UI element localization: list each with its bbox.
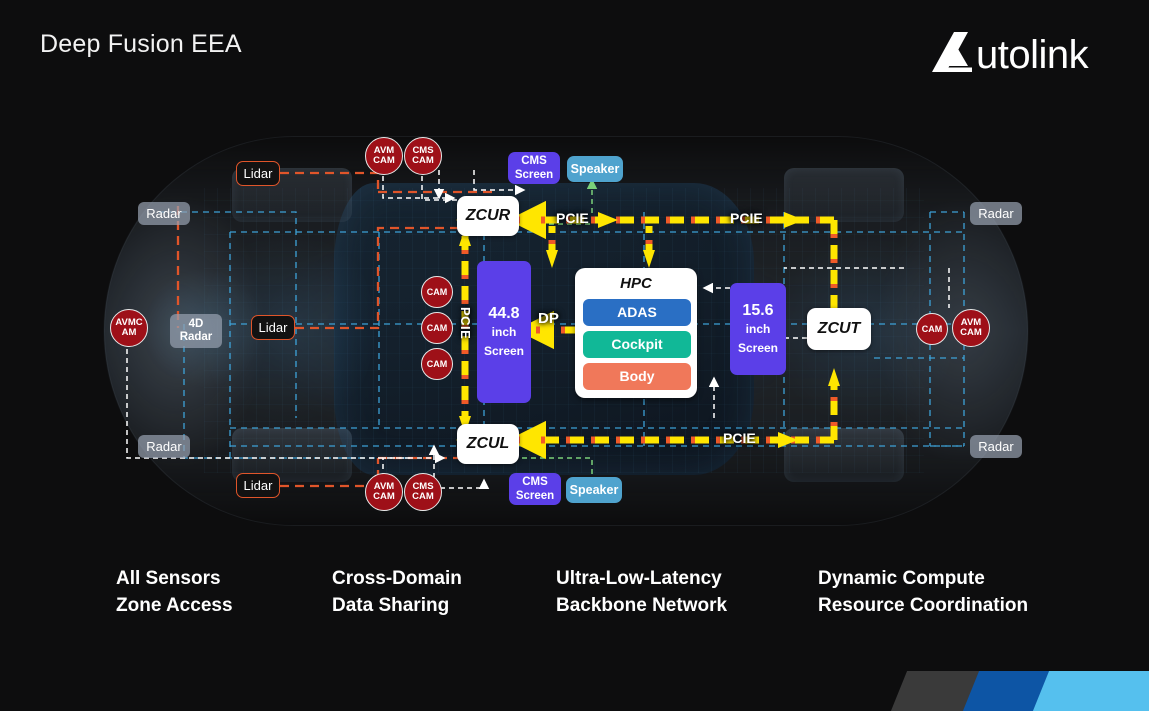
dp-label: DP [538, 310, 559, 327]
camera-line1: CAM [922, 324, 943, 335]
camera-line2: CAM [373, 156, 395, 167]
radar-4d-line2: Radar [180, 331, 213, 344]
pcie-label-bottom: PCIE [723, 430, 756, 446]
screen-size: 15.6 [742, 301, 773, 320]
feature-line1: Ultra-Low-Latency [556, 565, 727, 592]
screen-kind: Screen [484, 342, 524, 361]
radar-top-right[interactable]: Radar [970, 202, 1022, 225]
camera-line2: CAM [412, 492, 434, 503]
speaker-top[interactable]: Speaker [567, 156, 623, 182]
cam-mid-1[interactable]: CAM [421, 276, 453, 308]
feature-line1: All Sensors [116, 565, 233, 592]
hpc-domain-adas[interactable]: ADAS [583, 299, 691, 326]
corner-stripes [889, 671, 1149, 711]
screen-kind: Screen [738, 339, 778, 358]
screen-size: 44.8 [488, 304, 519, 323]
camera-line1: CAM [427, 287, 448, 298]
lidar-top-left[interactable]: Lidar [236, 161, 280, 186]
radar-4d-line1: 4D [189, 318, 204, 331]
pcie-label-top-right: PCIE [730, 210, 763, 226]
cms-screen-line1: CMS [522, 475, 548, 489]
hpc-title: HPC [583, 274, 689, 294]
avm-cam-bottom-left[interactable]: AVM CAM [365, 473, 403, 511]
camera-line1: CAM [427, 359, 448, 370]
stripe-lightblue [1033, 671, 1149, 711]
svg-text:utolink: utolink [976, 33, 1090, 77]
zcu-left-front[interactable]: ZCUL [457, 424, 519, 464]
cms-screen-line2: Screen [515, 168, 553, 182]
avm-cam-right[interactable]: AVM CAM [952, 309, 990, 347]
lidar-mid-left[interactable]: Lidar [251, 315, 295, 340]
camera-line2: AM [122, 328, 137, 339]
autolink-logo: utolink [924, 26, 1124, 78]
cam-mid-3[interactable]: CAM [421, 348, 453, 380]
autolink-a-mark-icon: utolink [924, 26, 1124, 78]
feature-line1: Cross-Domain [332, 565, 462, 592]
avm-cam-top-left[interactable]: AVM CAM [365, 137, 403, 175]
feature-line2: Data Sharing [332, 592, 462, 619]
pcie-label-vertical: PCIE [458, 307, 473, 339]
cms-screen-line1: CMS [521, 154, 547, 168]
feature-item-3: Dynamic Compute Resource Coordination [818, 565, 1028, 619]
radar-bottom-right[interactable]: Radar [970, 435, 1022, 458]
camera-line2: CAM [412, 156, 434, 167]
radar-top-left[interactable]: Radar [138, 202, 190, 225]
page-title: Deep Fusion EEA [40, 30, 242, 59]
cms-cam-bottom-left[interactable]: CMS CAM [404, 473, 442, 511]
speaker-bottom[interactable]: Speaker [566, 477, 622, 503]
zcu-right-front[interactable]: ZCUR [457, 196, 519, 236]
hpc-domain-body[interactable]: Body [583, 363, 691, 390]
avmc-am-left[interactable]: AVMC AM [110, 309, 148, 347]
feature-item-2: Ultra-Low-Latency Backbone Network [556, 565, 727, 619]
radar-4d[interactable]: 4D Radar [170, 314, 222, 348]
feature-item-1: Cross-Domain Data Sharing [332, 565, 462, 619]
cam-mid-2[interactable]: CAM [421, 312, 453, 344]
cms-screen-top[interactable]: CMS Screen [508, 152, 560, 184]
feature-line2: Backbone Network [556, 592, 727, 619]
hpc-domain-cockpit[interactable]: Cockpit [583, 331, 691, 358]
zcu-tail[interactable]: ZCUT [807, 308, 871, 350]
hpc-module[interactable]: HPC ADAS Cockpit Body [575, 268, 697, 398]
cms-screen-line2: Screen [516, 489, 554, 503]
cms-cam-top-left[interactable]: CMS CAM [404, 137, 442, 175]
feature-list: All Sensors Zone Access Cross-Domain Dat… [0, 560, 1149, 630]
feature-item-0: All Sensors Zone Access [116, 565, 233, 619]
screen-448[interactable]: 44.8 inch Screen [477, 261, 531, 403]
screen-unit: inch [492, 323, 517, 342]
cam-right[interactable]: CAM [916, 313, 948, 345]
feature-line2: Resource Coordination [818, 592, 1028, 619]
feature-line1: Dynamic Compute [818, 565, 1028, 592]
screen-unit: inch [746, 320, 771, 339]
slide-root: Deep Fusion EEA utolink [0, 0, 1149, 711]
cms-screen-bottom[interactable]: CMS Screen [509, 473, 561, 505]
feature-line2: Zone Access [116, 592, 233, 619]
lidar-bottom-left[interactable]: Lidar [236, 473, 280, 498]
screen-156[interactable]: 15.6 inch Screen [730, 283, 786, 375]
camera-line1: CAM [427, 323, 448, 334]
camera-line2: CAM [960, 328, 982, 339]
pcie-label-top-left: PCIE [556, 210, 589, 226]
vehicle-diagram: AVM CAM CMS CAM AVM CAM CMS CAM AVMC AM … [84, 128, 1048, 532]
wiring-layer [84, 128, 1048, 532]
camera-line2: CAM [373, 492, 395, 503]
radar-bottom-left[interactable]: Radar [138, 435, 190, 458]
